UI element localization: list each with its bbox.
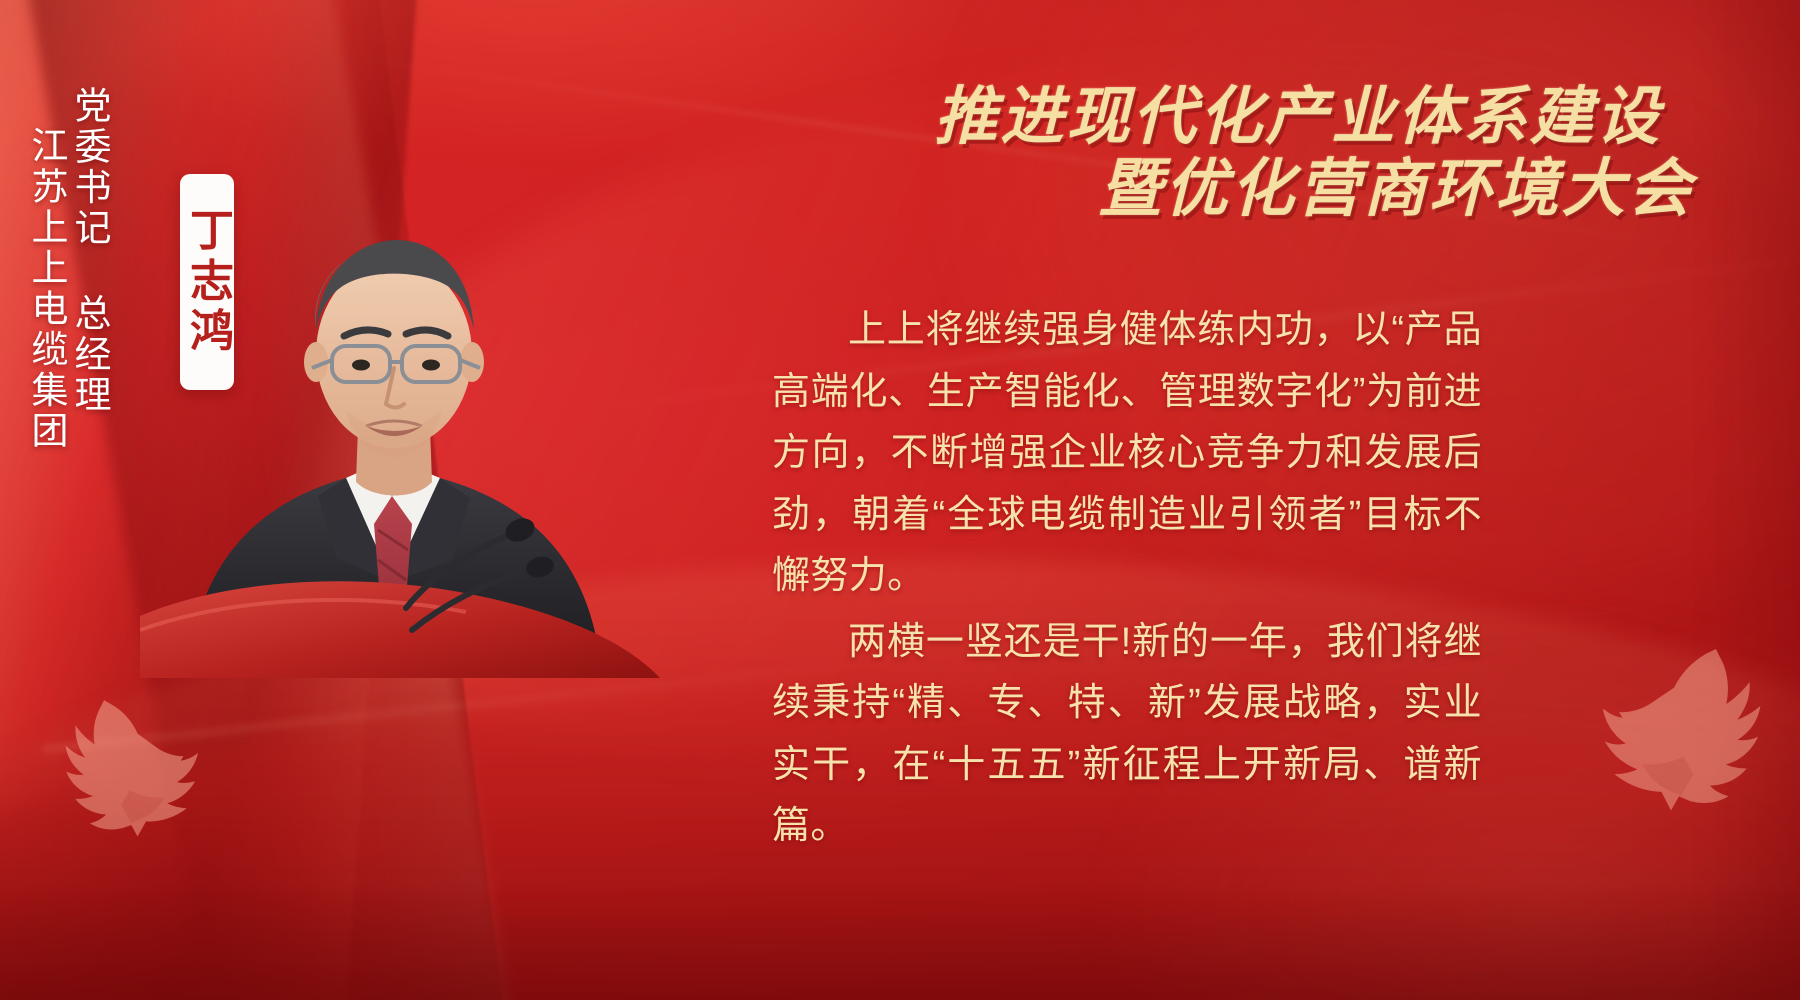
speaker-portrait [140,178,660,678]
headline-line-1: 推进现代化产业体系建设 [760,84,1700,150]
speech-paragraph-1: 上上将继续强身健体练内功，以“产品高端化、生产智能化、管理数字化”为前进方向，不… [772,300,1482,608]
page-title: 推进现代化产业体系建设 暨优化营商环境大会 [760,84,1700,222]
identity-company-text: 江苏上上电缆集团 [28,126,65,452]
speech-body: 上上将继续强身健体练内功，以“产品高端化、生产智能化、管理数字化”为前进方向，不… [772,300,1482,858]
conference-poster: 党委书记 总经理 江苏上上电缆集团 丁志鸿 [0,0,1800,1000]
identity-role-text: 党委书记 总经理 [71,86,108,416]
background-right-edge [1700,0,1800,1000]
background-bottom-edge [0,880,1800,1000]
dove-icon [1587,628,1800,852]
headline-line-2: 暨优化营商环境大会 [760,156,1700,222]
speech-paragraph-2: 两横一竖还是干!新的一年，我们将继续秉持“精、专、特、新”发展战略，实业实干，在… [772,612,1482,858]
identity-column: 党委书记 总经理 江苏上上电缆集团 [28,86,108,946]
